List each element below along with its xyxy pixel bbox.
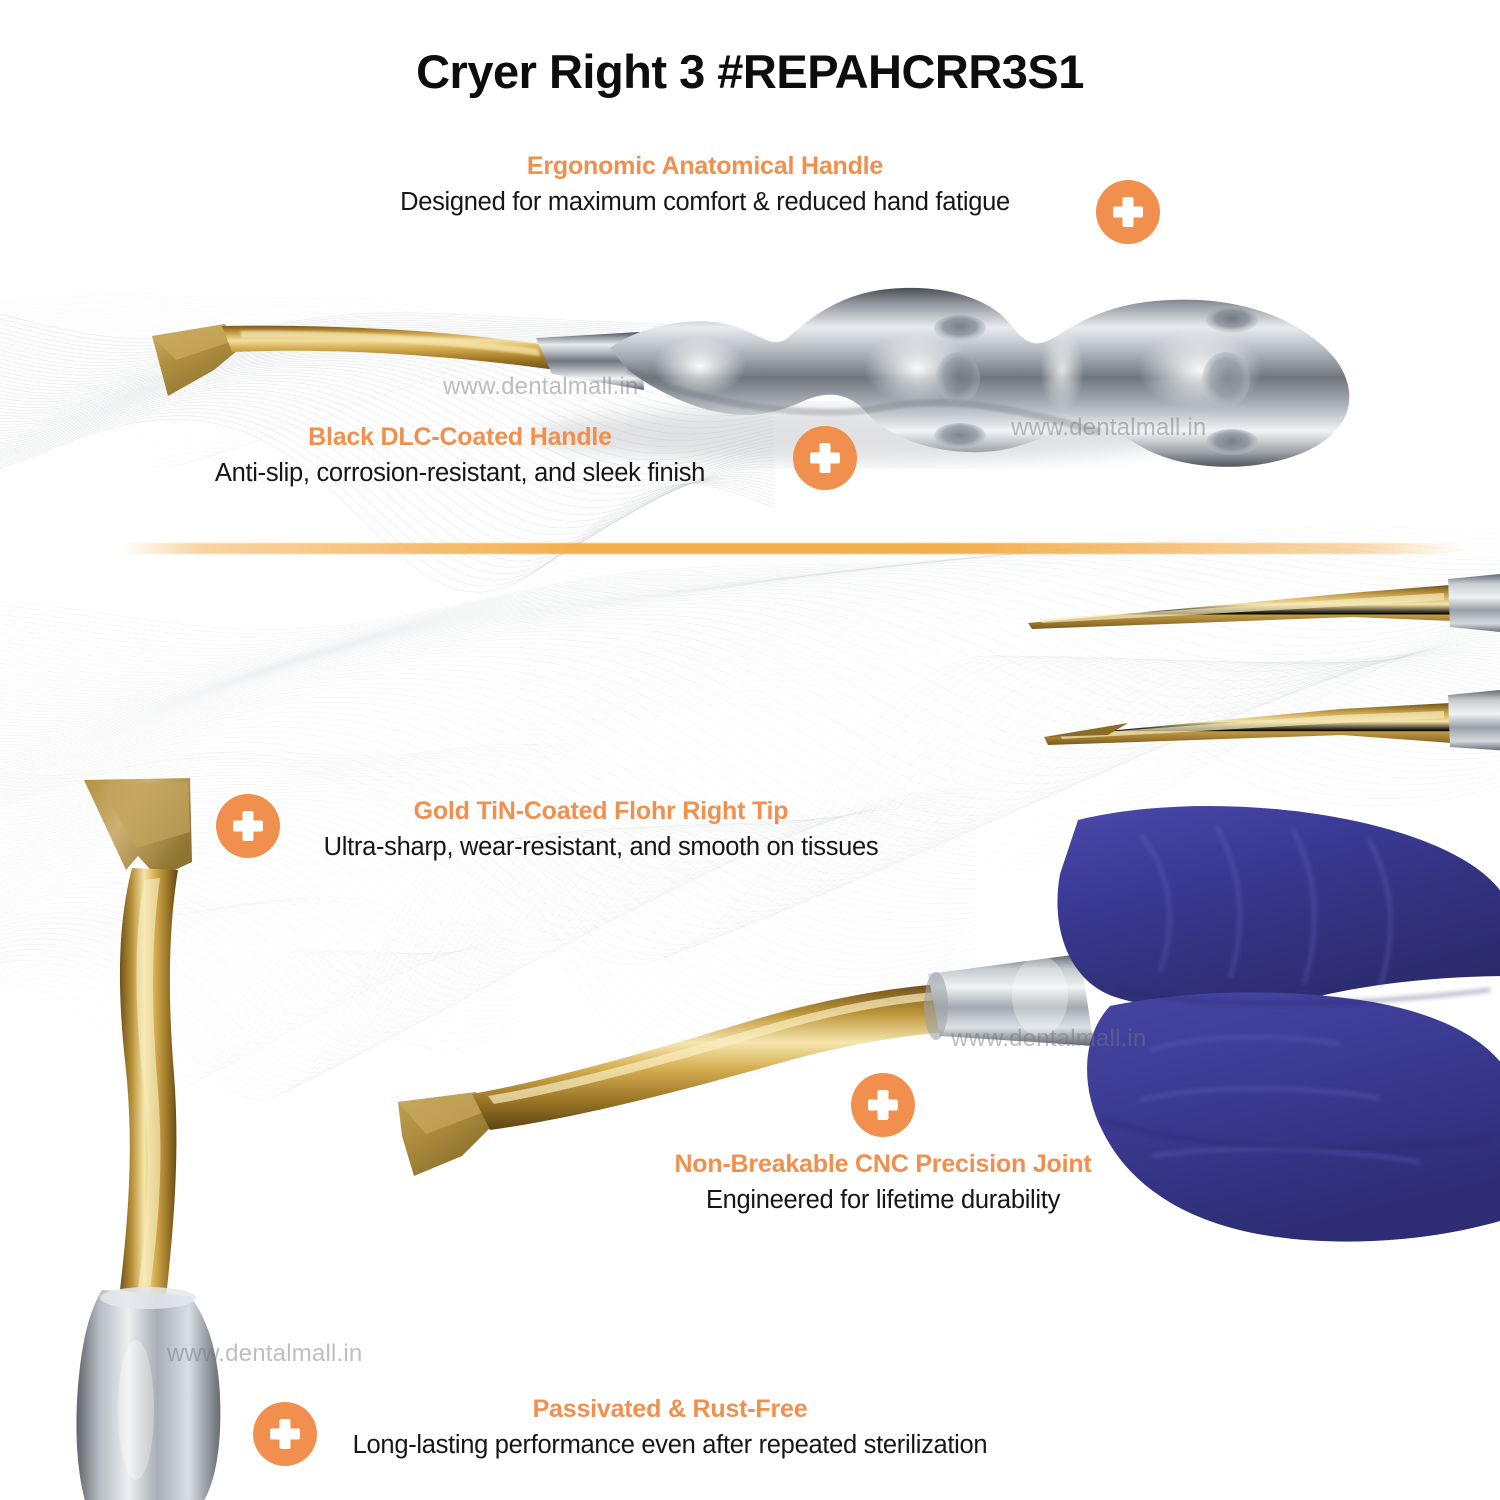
product-photo-left-instrument (40, 770, 300, 1500)
callout-heading: Black DLC-Coated Handle (155, 423, 765, 452)
callout-heading: Passivated & Rust-Free (320, 1395, 1020, 1424)
callout-subtext: Long-lasting performance even after repe… (320, 1431, 1020, 1460)
callout-heading: Gold TiN-Coated Flohr Right Tip (300, 797, 902, 826)
callout-subtext: Ultra-sharp, wear-resistant, and smooth … (300, 833, 902, 862)
plus-icon[interactable] (216, 794, 280, 858)
product-photo-probe-pair (1020, 555, 1500, 805)
plus-icon[interactable] (851, 1073, 915, 1137)
plus-icon[interactable] (253, 1402, 317, 1466)
callout-gold-tin-coated-flohr-right-tip: Gold TiN-Coated Flohr Right Tip Ultra-sh… (300, 797, 902, 862)
callout-black-dlc-coated-handle: Black DLC-Coated Handle Anti-slip, corro… (155, 423, 765, 488)
plus-icon[interactable] (1096, 180, 1160, 244)
callout-non-breakable-cnc-precision-joint: Non-Breakable CNC Precision Joint Engine… (633, 1150, 1133, 1215)
page-title: Cryer Right 3 #REPAHCRR3S1 (0, 44, 1500, 99)
callout-subtext: Anti-slip, corrosion-resistant, and slee… (155, 459, 765, 488)
callout-heading: Ergonomic Anatomical Handle (350, 152, 1060, 181)
section-divider (120, 543, 1465, 554)
callout-subtext: Designed for maximum comfort & reduced h… (350, 188, 1060, 217)
callout-passivated-rust-free: Passivated & Rust-Free Long-lasting perf… (320, 1395, 1020, 1460)
callout-heading: Non-Breakable CNC Precision Joint (633, 1150, 1133, 1179)
callout-subtext: Engineered for lifetime durability (633, 1186, 1133, 1215)
callout-ergonomic-anatomical-handle: Ergonomic Anatomical Handle Designed for… (350, 152, 1060, 217)
plus-icon[interactable] (793, 426, 857, 490)
infographic-canvas: Cryer Right 3 #REPAHCRR3S1 Ergonomic Ana… (0, 0, 1500, 1500)
